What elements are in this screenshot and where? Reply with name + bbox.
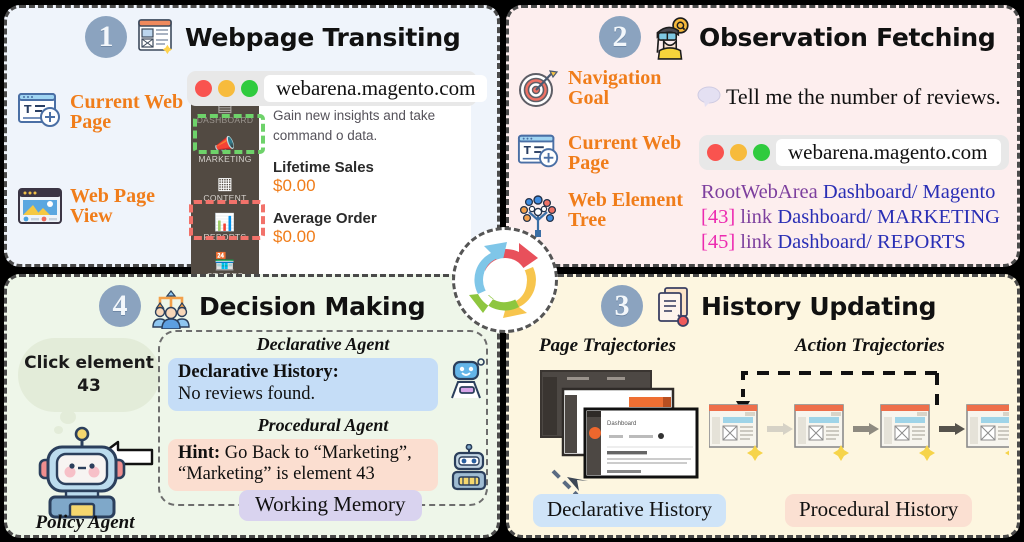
stat-label-lifetime-sales: Lifetime Sales — [273, 159, 471, 176]
stat-value-average-order: $0.00 — [273, 227, 471, 247]
explorer-icon — [649, 16, 691, 58]
magento-subtitle: Gain new insights and take command o dat… — [273, 106, 471, 145]
policy-agent-robot-icon — [22, 420, 142, 520]
declarative-history-memo: Declarative History: No reviews found. — [168, 358, 438, 411]
thought-bubble: Click element 43 — [18, 338, 160, 412]
current-web-page-label-2: Current Web Page — [568, 133, 697, 174]
panel-webpage-transiting: 1 Webpage Transiting — [4, 5, 500, 267]
svg-text:T: T — [524, 145, 532, 157]
traffic-light-yellow[interactable] — [218, 80, 235, 97]
tree-row-1: [43] link Dashboard/ MARKETING — [701, 205, 1000, 230]
panel4-title: Decision Making — [199, 292, 425, 321]
page-trajectories-title: Page Trajectories — [539, 335, 676, 357]
goal-bubble: Tell me the number of reviews. — [697, 84, 1001, 110]
action-trajectories-title: Action Trajectories — [795, 335, 945, 357]
working-memory-box: Declarative Agent Declarative History: N… — [158, 330, 488, 506]
label-web-page-view: Web Page View — [17, 186, 187, 228]
panel-history-updating: 3 History Updating Page Trajectories Act… — [506, 274, 1020, 538]
hint-label: Hint: — [178, 443, 220, 463]
panel-observation-fetching: 2 Observation Fetching — [506, 5, 1020, 267]
declarative-history-chip: Declarative History — [533, 494, 726, 527]
figure-root: 1 Webpage Transiting — [0, 0, 1024, 542]
svg-text:T: T — [24, 103, 32, 116]
web-page-view-label: Web Page View — [70, 186, 187, 227]
tree-text-1: Dashboard/ MARKETING — [777, 206, 1000, 228]
sidebar-item-stores[interactable]: 🏪 STORES — [191, 246, 259, 276]
magento-body: Gain new insights and take command o dat… — [259, 98, 471, 276]
svg-text:Dashboard: Dashboard — [607, 421, 636, 427]
traffic-light-green-2[interactable] — [753, 144, 770, 161]
traffic-light-red-2[interactable] — [707, 144, 724, 161]
step-badge-3: 3 — [601, 285, 643, 327]
panel1-title: Webpage Transiting — [185, 23, 460, 52]
label-navigation-goal: Navigation Goal — [517, 68, 697, 110]
tree-text-2: Dashboard/ REPORTS — [777, 231, 965, 253]
web-element-tree-label: Web Element Tree — [568, 190, 697, 231]
tree-id-1: [43] — [701, 206, 735, 228]
declarative-agent-title: Declarative Agent — [160, 334, 486, 355]
procedural-history-chip: Procedural History — [785, 494, 972, 527]
policy-agent-label: Policy Agent — [10, 512, 160, 534]
url-text-2[interactable]: webarena.magento.com — [776, 139, 1001, 166]
webpage-icon — [135, 16, 177, 58]
highlight-reports — [189, 200, 265, 240]
step-badge-1: 1 — [85, 16, 127, 58]
tree-role-1: link — [740, 206, 772, 228]
step-badge-2: 2 — [599, 16, 641, 58]
browser-urlbar-1[interactable]: webarena.magento.com — [187, 71, 477, 106]
panel1-header: 1 Webpage Transiting — [7, 8, 497, 60]
browser-urlbar-2[interactable]: webarena.magento.com — [699, 135, 1009, 170]
layout-icon: ▦ — [191, 175, 259, 193]
goal-text: Tell me the number of reviews. — [726, 84, 1001, 110]
element-tree-list: RootWebArea Dashboard/ Magento [43] link… — [701, 180, 1000, 255]
tree-row-2: [45] link Dashboard/ REPORTS — [701, 230, 1000, 255]
web-page-view-icon — [17, 186, 63, 228]
target-icon — [517, 68, 561, 110]
stat-label-average-order: Average Order — [273, 210, 471, 227]
current-web-page-icon-2: T — [517, 133, 561, 171]
panel3-header: 3 History Updating — [509, 277, 1017, 329]
procedural-hint-memo: Hint: Go Back to “Marketing”, “Marketing… — [168, 439, 438, 492]
decision-people-icon — [149, 285, 191, 327]
tree-role-2: link — [740, 231, 772, 253]
panel4-header: 4 Decision Making — [7, 277, 497, 329]
traffic-light-yellow-2[interactable] — [730, 144, 747, 161]
current-web-page-icon: T — [17, 92, 63, 130]
declarative-agent-robot-icon — [448, 354, 488, 402]
page-trajectory-stack: Dashboard — [533, 367, 733, 497]
four-arrow-cycle-icon — [452, 227, 558, 333]
thought-text: Click element 43 — [18, 352, 160, 398]
notes-pin-icon — [651, 285, 693, 327]
current-web-page-label: Current Web Page — [70, 92, 187, 133]
label-current-web-page-2: T Current Web Page — [517, 133, 697, 174]
panel2-title: Observation Fetching — [699, 23, 996, 52]
declarative-history-value: No reviews found. — [178, 384, 428, 406]
declarative-history-label: Declarative History: — [178, 362, 428, 384]
tree-role-0: RootWebArea — [701, 181, 818, 203]
working-memory-chip: Working Memory — [239, 490, 422, 521]
tree-row-0: RootWebArea Dashboard/ Magento — [701, 180, 1000, 205]
traffic-light-green[interactable] — [241, 80, 258, 97]
panel3-title: History Updating — [701, 292, 936, 321]
stat-value-lifetime-sales: $0.00 — [273, 176, 471, 196]
speech-bubble-icon — [697, 86, 721, 108]
action-trajectory-row — [709, 363, 1009, 473]
navigation-goal-label: Navigation Goal — [568, 68, 697, 109]
label-current-web-page: T Current Web Page — [17, 92, 187, 133]
highlight-marketing — [193, 114, 265, 154]
procedural-agent-robot-icon — [450, 444, 488, 494]
store-icon: 🏪 — [191, 253, 259, 271]
tree-id-2: [45] — [701, 231, 735, 253]
tree-text-0: Dashboard/ Magento — [823, 181, 996, 203]
procedural-agent-title: Procedural Agent — [160, 415, 486, 436]
panel2-header: 2 Observation Fetching — [509, 8, 1017, 60]
traffic-light-red[interactable] — [195, 80, 212, 97]
sidebar-label-1: MARKETING — [198, 154, 251, 164]
url-text-1[interactable]: webarena.magento.com — [264, 75, 487, 102]
step-badge-4: 4 — [99, 285, 141, 327]
